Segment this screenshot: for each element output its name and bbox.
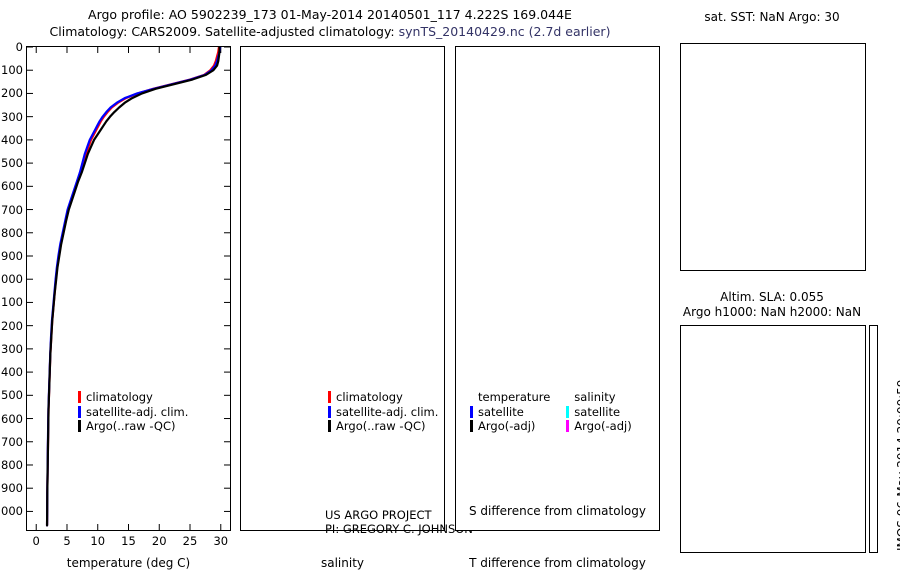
y-tick-300: 300 bbox=[1, 110, 23, 124]
y-tick-1500: 1500 bbox=[0, 388, 23, 402]
legend-item: Argo(..raw -QC) bbox=[328, 419, 438, 434]
legend-label: Argo(-adj) bbox=[574, 419, 631, 434]
y-tick-900: 900 bbox=[1, 249, 23, 263]
legend-label: satellite-adj. clim. bbox=[86, 405, 188, 420]
y-tick-0: 0 bbox=[16, 40, 23, 54]
top-map-panel[interactable] bbox=[680, 43, 866, 271]
bottom-map-title-line-2: Argo h1000: NaN h2000: NaN bbox=[672, 305, 872, 320]
bottom-map-title: Altim. SLA: 0.055 Argo h1000: NaN h2000:… bbox=[672, 290, 872, 320]
legend-label: Argo(..raw -QC) bbox=[336, 419, 426, 434]
y-tick-1900: 1900 bbox=[0, 481, 23, 495]
legend-swatch-sal-argo bbox=[566, 420, 569, 432]
colorbar bbox=[869, 325, 878, 553]
y-tick-2000: 2000 bbox=[0, 504, 23, 518]
y-tick-600: 600 bbox=[1, 179, 23, 193]
temperature-profile-panel[interactable]: 0100200300400500600700800900100011001200… bbox=[26, 46, 231, 531]
legend-item: satellite-adj. clim. bbox=[328, 405, 438, 420]
legend-item: Argo(-adj) bbox=[566, 419, 631, 434]
legend-label: Argo(..raw -QC) bbox=[86, 419, 176, 434]
x-tick-0: 0 bbox=[33, 534, 40, 548]
page-title: Argo profile: AO 5902239_173 01-May-2014… bbox=[0, 6, 660, 40]
legend-swatch-argo-raw bbox=[78, 420, 81, 432]
legend-label: climatology bbox=[86, 390, 153, 405]
y-tick-1700: 1700 bbox=[0, 435, 23, 449]
legend-swatch-temp-satellite bbox=[470, 406, 473, 418]
title-line-1: Argo profile: AO 5902239_173 01-May-2014… bbox=[88, 7, 572, 22]
salinity-profile-panel[interactable] bbox=[240, 46, 445, 531]
x-tick-20: 20 bbox=[152, 534, 167, 548]
x-tick-30: 30 bbox=[213, 534, 228, 548]
y-tick-1100: 1100 bbox=[0, 295, 23, 309]
y-tick-400: 400 bbox=[1, 133, 23, 147]
difference-legend: temperature satellite Argo(-adj) salinit… bbox=[470, 390, 632, 434]
legend-swatch-sal-satellite bbox=[566, 406, 569, 418]
legend-label: climatology bbox=[336, 390, 403, 405]
y-tick-500: 500 bbox=[1, 156, 23, 170]
legend-item: Argo(-adj) bbox=[470, 419, 550, 434]
y-tick-1000: 1000 bbox=[0, 272, 23, 286]
legend-item: satellite bbox=[470, 405, 550, 420]
salinity-legend: climatology satellite-adj. clim. Argo(..… bbox=[328, 390, 438, 434]
x-tick-25: 25 bbox=[183, 534, 198, 548]
legend-label: satellite bbox=[574, 405, 620, 420]
top-map-title: sat. SST: NaN Argo: 30 bbox=[672, 10, 872, 25]
y-tick-700: 700 bbox=[1, 203, 23, 217]
legend-swatch-satellite-adj bbox=[78, 406, 81, 418]
legend-swatch-climatology bbox=[78, 391, 81, 403]
legend-swatch-climatology bbox=[328, 391, 331, 403]
legend-item: satellite-adj. clim. bbox=[78, 405, 188, 420]
legend-swatch-argo-raw bbox=[328, 420, 331, 432]
legend-label: satellite-adj. clim. bbox=[336, 405, 438, 420]
salinity-axis-title: salinity bbox=[240, 556, 445, 570]
legend-label: satellite bbox=[478, 405, 524, 420]
legend-item: climatology bbox=[328, 390, 438, 405]
legend-label: Argo(-adj) bbox=[478, 419, 535, 434]
y-tick-1200: 1200 bbox=[0, 319, 23, 333]
legend-swatch-satellite-adj bbox=[328, 406, 331, 418]
title-line-2-file: synTS_20140429.nc (2.7d earlier) bbox=[399, 24, 611, 39]
x-tick-10: 10 bbox=[90, 534, 105, 548]
y-tick-200: 200 bbox=[1, 86, 23, 100]
y-tick-1800: 1800 bbox=[0, 458, 23, 472]
project-credit: US ARGO PROJECT PI: GREGORY C. JOHNSON bbox=[325, 508, 473, 536]
legend-item: climatology bbox=[78, 390, 188, 405]
difference-t-axis-title: T difference from climatology bbox=[455, 556, 660, 570]
bottom-map-title-line-1: Altim. SLA: 0.055 bbox=[672, 290, 872, 305]
imos-timestamp-label: IMOS 06-May-2014 20:00:59 bbox=[895, 379, 900, 551]
y-tick-1300: 1300 bbox=[0, 342, 23, 356]
credit-line-1: US ARGO PROJECT bbox=[325, 508, 473, 522]
y-tick-100: 100 bbox=[1, 63, 23, 77]
legend-header-temperature: temperature bbox=[470, 390, 550, 405]
x-tick-15: 15 bbox=[121, 534, 136, 548]
difference-legend-temperature-col: temperature satellite Argo(-adj) bbox=[470, 390, 550, 434]
temperature-legend: climatology satellite-adj. clim. Argo(..… bbox=[78, 390, 188, 434]
y-tick-800: 800 bbox=[1, 226, 23, 240]
bottom-map-panel[interactable] bbox=[680, 325, 866, 553]
y-tick-1600: 1600 bbox=[0, 412, 23, 426]
temperature-axis-title: temperature (deg C) bbox=[26, 556, 231, 570]
legend-header-salinity: salinity bbox=[566, 390, 631, 405]
legend-swatch-temp-argo bbox=[470, 420, 473, 432]
legend-item: satellite bbox=[566, 405, 631, 420]
y-tick-1400: 1400 bbox=[0, 365, 23, 379]
credit-line-2: PI: GREGORY C. JOHNSON bbox=[325, 522, 473, 536]
difference-profile-panel[interactable] bbox=[455, 46, 660, 531]
legend-item: Argo(..raw -QC) bbox=[78, 419, 188, 434]
difference-s-axis-title: S difference from climatology bbox=[455, 504, 660, 518]
x-tick-5: 5 bbox=[63, 534, 70, 548]
title-line-2-prefix: Climatology: CARS2009. Satellite-adjuste… bbox=[50, 24, 399, 39]
difference-legend-salinity-col: salinity satellite Argo(-adj) bbox=[566, 390, 631, 434]
